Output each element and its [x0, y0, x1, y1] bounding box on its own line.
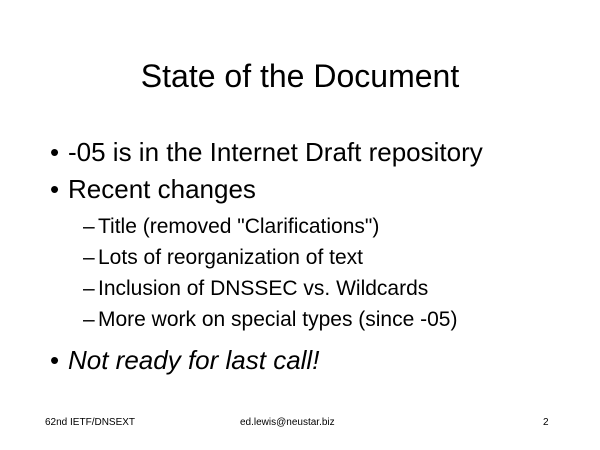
bullet-item-level1: • -05 is in the Internet Draft repositor… — [45, 134, 565, 171]
bullet-item-label: Lots of reorganization of text — [98, 246, 363, 269]
bullet-item-level2: – Inclusion of DNSSEC vs. Wildcards — [45, 273, 565, 304]
bullet-item-label: Inclusion of DNSSEC vs. Wildcards — [98, 277, 428, 300]
footer-event-label: 62nd IETF/DNSEXT — [45, 412, 135, 434]
presentation-slide: State of the Document • -05 is in the In… — [0, 0, 600, 450]
bullet-item-level1: • Not ready for last call! — [45, 342, 565, 379]
footer-page-number: 2 — [543, 412, 549, 434]
bullet-dash-icon: – — [83, 273, 95, 304]
slide-title: State of the Document — [0, 57, 600, 95]
bullet-item-label: More work on special types (since -05) — [98, 308, 457, 331]
bullet-dash-icon: – — [83, 242, 95, 273]
bullet-item-level2: – More work on special types (since -05) — [45, 304, 565, 335]
bullet-item-level1: • Recent changes — [45, 171, 565, 208]
bullet-item-label: -05 is in the Internet Draft repository — [68, 137, 483, 167]
footer-email-label: ed.lewis@neustar.biz — [240, 412, 335, 434]
bullet-dash-icon: – — [83, 211, 95, 242]
bullet-item-label: Recent changes — [68, 174, 256, 204]
bullet-sublist: – Title (removed "Clarifications") – Lot… — [45, 211, 565, 335]
bullet-item-label: Title (removed "Clarifications") — [98, 215, 379, 238]
slide-body-bullet-list: • -05 is in the Internet Draft repositor… — [45, 134, 565, 379]
bullet-dot-icon: • — [50, 171, 59, 208]
bullet-dot-icon: • — [50, 134, 59, 171]
bullet-item-level2: – Title (removed "Clarifications") — [45, 211, 565, 242]
slide-footer: 62nd IETF/DNSEXT ed.lewis@neustar.biz 2 — [0, 412, 600, 434]
bullet-dot-icon: • — [50, 342, 59, 379]
bullet-item-level2: – Lots of reorganization of text — [45, 242, 565, 273]
bullet-dash-icon: – — [83, 304, 95, 335]
bullet-item-label: Not ready for last call! — [68, 345, 319, 375]
